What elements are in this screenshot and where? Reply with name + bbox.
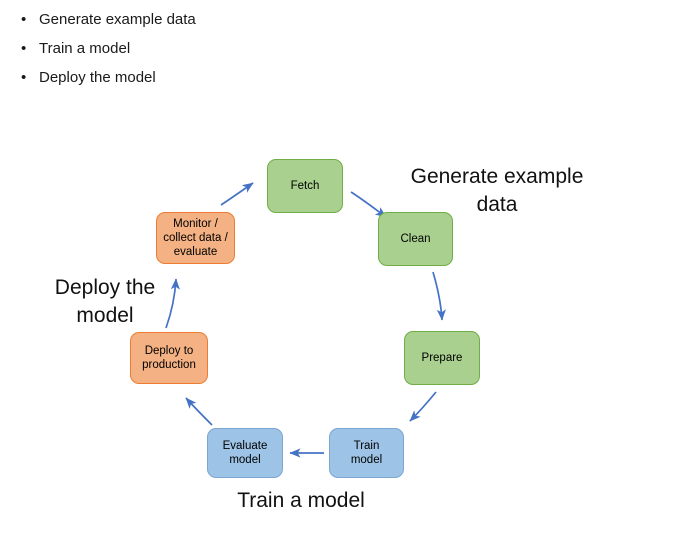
node-clean[interactable]: Clean (378, 212, 453, 266)
node-train-model[interactable]: Trainmodel (329, 428, 404, 478)
node-prepare[interactable]: Prepare (404, 331, 480, 385)
node-deploy-to-production-label: Deploy toproduction (142, 344, 196, 372)
node-monitor-collect-evaluate-label: Monitor /collect data /evaluate (163, 217, 228, 259)
node-fetch[interactable]: Fetch (267, 159, 343, 213)
node-train-model-label: Trainmodel (351, 439, 382, 467)
arrow-evaluate-to-deploy (186, 398, 212, 425)
arrow-monitor-to-fetch (221, 183, 253, 205)
arrow-prepare-to-train (410, 392, 436, 421)
caption-deploy-the-model: Deploy the model (34, 274, 176, 330)
caption-generate-example-data: Generate example data (399, 163, 595, 219)
ml-lifecycle-cycle-diagram: Fetch Clean Prepare Trainmodel Evaluatem… (0, 0, 682, 551)
caption-train-a-model: Train a model (215, 487, 387, 515)
node-prepare-label: Prepare (422, 351, 463, 365)
node-deploy-to-production[interactable]: Deploy toproduction (130, 332, 208, 384)
node-clean-label: Clean (400, 232, 430, 246)
node-monitor-collect-evaluate[interactable]: Monitor /collect data /evaluate (156, 212, 235, 264)
node-evaluate-model-label: Evaluatemodel (223, 439, 268, 467)
node-evaluate-model[interactable]: Evaluatemodel (207, 428, 283, 478)
node-fetch-label: Fetch (291, 179, 320, 193)
arrow-clean-to-prepare (433, 272, 442, 320)
